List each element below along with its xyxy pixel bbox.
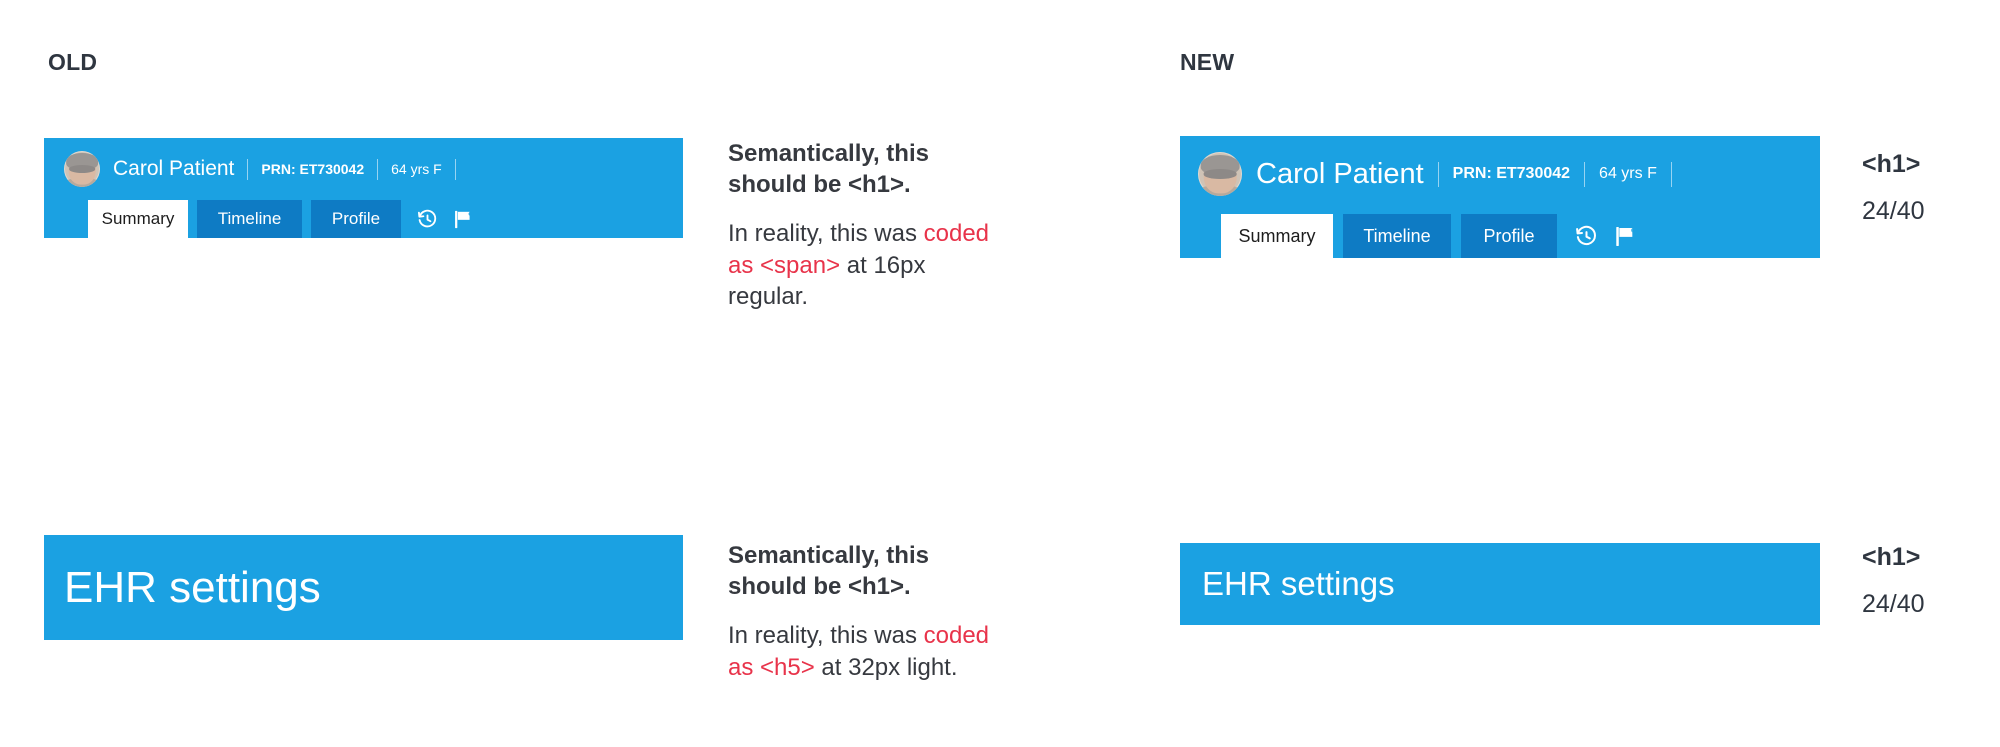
- patient-tabs-new: Summary Timeline Profile: [1221, 214, 1637, 258]
- patient-header-new: Carol Patient PRN: ET730042 64 yrs F Sum…: [1180, 136, 1820, 258]
- settings-banner-old: EHR settings: [44, 535, 683, 640]
- meta-divider: [1584, 162, 1585, 187]
- patient-identity-new: Carol Patient PRN: ET730042 64 yrs F: [1198, 148, 1686, 200]
- patient-age-sex-old: 64 yrs F: [391, 161, 442, 177]
- settings-banner-new: EHR settings: [1180, 543, 1820, 625]
- history-clock-icon[interactable]: [415, 207, 439, 231]
- patient-photo-avatar: [64, 151, 100, 187]
- tab-timeline-old[interactable]: Timeline: [197, 200, 302, 238]
- patient-action-icons-old: [415, 200, 474, 238]
- spec-settings-header: <h1> 24/40: [1862, 545, 1925, 617]
- settings-banner-title-old: EHR settings: [64, 563, 321, 613]
- patient-age-sex-new: 64 yrs F: [1599, 165, 1657, 183]
- spec-patient-size: 24/40: [1862, 199, 1925, 224]
- meta-divider: [1438, 162, 1439, 187]
- note-settings-header: Semantically, this should be <h1>. In re…: [728, 540, 1008, 683]
- section-label-old: OLD: [48, 49, 97, 76]
- patient-photo-avatar: [1198, 152, 1242, 196]
- patient-tabs-old: Summary Timeline Profile: [88, 200, 474, 238]
- patient-action-icons-new: [1573, 214, 1637, 258]
- history-clock-icon[interactable]: [1573, 223, 1599, 249]
- patient-identity-old: Carol Patient PRN: ET730042 64 yrs F: [64, 148, 469, 190]
- patient-prn-new: PRN: ET730042: [1453, 165, 1570, 183]
- note-settings-heading: Semantically, this should be <h1>.: [728, 540, 1008, 602]
- meta-divider: [1671, 162, 1672, 187]
- tab-summary-old[interactable]: Summary: [88, 200, 188, 238]
- tab-profile-old[interactable]: Profile: [311, 200, 401, 238]
- spec-settings-size: 24/40: [1862, 592, 1925, 617]
- spec-patient-tag: <h1>: [1862, 152, 1925, 177]
- note-settings-body: In reality, this was coded as <h5> at 32…: [728, 620, 1008, 682]
- note-settings-body-tail: at 32px light.: [815, 654, 958, 681]
- note-patient-body-lead: In reality, this was: [728, 220, 924, 247]
- patient-name-old: Carol Patient: [113, 157, 234, 181]
- patient-prn-old: PRN: ET730042: [261, 161, 364, 177]
- note-patient-header: Semantically, this should be <h1>. In re…: [728, 138, 1008, 312]
- meta-divider: [455, 159, 456, 180]
- patient-name-new: Carol Patient: [1256, 158, 1424, 191]
- meta-divider: [247, 159, 248, 180]
- flag-icon[interactable]: [450, 207, 474, 231]
- meta-divider: [377, 159, 378, 180]
- note-patient-heading: Semantically, this should be <h1>.: [728, 138, 1008, 200]
- note-settings-body-lead: In reality, this was: [728, 622, 924, 649]
- note-patient-body: In reality, this was coded as <span> at …: [728, 218, 1008, 312]
- tab-summary-new[interactable]: Summary: [1221, 214, 1333, 258]
- section-label-new: NEW: [1180, 49, 1234, 76]
- spec-patient-header: <h1> 24/40: [1862, 152, 1925, 224]
- tab-profile-new[interactable]: Profile: [1461, 214, 1557, 258]
- flag-icon[interactable]: [1611, 223, 1637, 249]
- patient-header-old: Carol Patient PRN: ET730042 64 yrs F Sum…: [44, 138, 683, 238]
- settings-banner-title-new: EHR settings: [1202, 565, 1395, 603]
- spec-settings-tag: <h1>: [1862, 545, 1925, 570]
- tab-timeline-new[interactable]: Timeline: [1343, 214, 1451, 258]
